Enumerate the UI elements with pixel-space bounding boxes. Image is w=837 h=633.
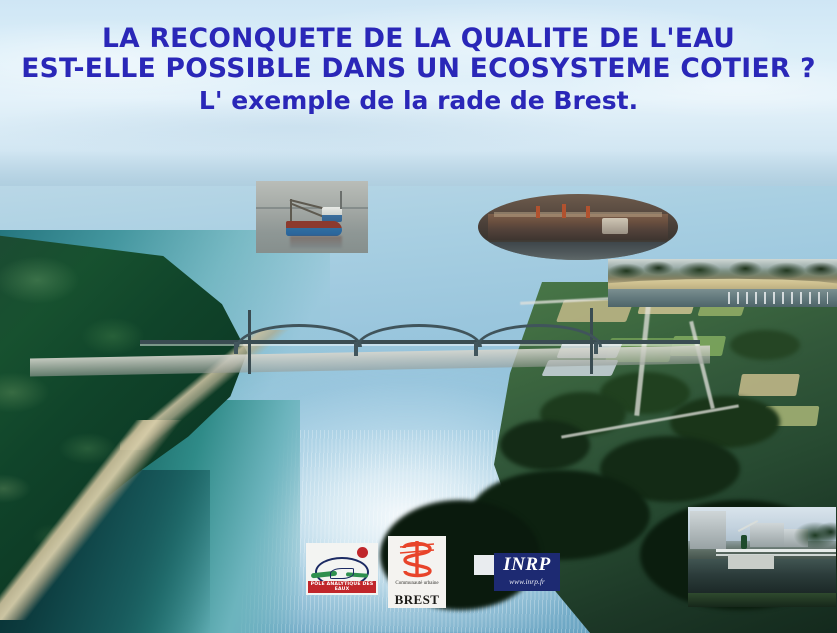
slide-title: LA RECONQUETE DE LA QUALITE DE L'EAU EST… <box>0 24 837 115</box>
boat-reflection <box>290 236 342 248</box>
ship-drydock-photo <box>478 194 678 260</box>
boat-photo-horizon <box>256 207 368 209</box>
title-line-2: EST-ELLE POSSIBLE DANS UN ECOSYSTEME COT… <box>0 54 837 84</box>
bridge-pier <box>594 342 598 354</box>
moored-boats <box>728 292 828 304</box>
bridge-arch <box>476 324 602 347</box>
bridge <box>140 322 700 386</box>
beach-treeline <box>608 259 837 279</box>
presentation-slide: LA RECONQUETE DE LA QUALITE DE L'EAU EST… <box>0 0 837 633</box>
inrp-url: www.inrp.fr <box>494 577 560 586</box>
brest-subtitle: Communauté urbaine <box>388 581 446 587</box>
inrp-name: INRP <box>494 554 560 576</box>
communaute-urbaine-brest-logo[interactable]: Communauté urbaine BREST <box>388 536 446 608</box>
station-weir <box>728 555 774 569</box>
boat-hull <box>286 221 342 236</box>
bridge-pier <box>474 342 478 356</box>
station-worker <box>741 535 747 549</box>
ship-hull <box>488 214 668 240</box>
brest-emblem-icon <box>396 538 438 580</box>
ship-photo-water <box>478 242 678 260</box>
pole-red-dot-icon <box>357 547 368 558</box>
ship-crane <box>536 206 540 218</box>
beach-photo <box>608 259 837 307</box>
station-grass <box>688 593 836 607</box>
title-line-1: LA RECONQUETE DE LA QUALITE DE L'EAU <box>0 24 837 54</box>
bridge-arch <box>236 324 362 347</box>
boat-cabin <box>322 207 342 222</box>
pole-analytique-des-eaux-logo[interactable]: PÔLE ANALYTIQUE DES EAUX <box>306 543 378 595</box>
bridge-arch <box>356 324 482 347</box>
ship-crane <box>562 204 566 218</box>
fishing-boat-photo <box>256 181 368 253</box>
field-patch <box>738 374 800 396</box>
bridge-pier <box>354 342 358 356</box>
boat-mast <box>340 191 342 209</box>
station-railing <box>716 549 836 552</box>
ship-superstructure <box>602 218 628 234</box>
brest-name: BREST <box>388 592 446 608</box>
woodland <box>500 420 590 470</box>
title-line-3: L' exemple de la rade de Brest. <box>0 87 837 115</box>
station-building <box>690 511 726 549</box>
inrp-logo[interactable]: INRP www.inrp.fr <box>474 553 560 591</box>
station-trees <box>784 515 836 549</box>
pole-logo-text: PÔLE ANALYTIQUE DES EAUX <box>308 581 376 593</box>
bridge-pier <box>234 342 238 354</box>
ship-crane <box>586 206 590 218</box>
ship-deck <box>494 212 662 217</box>
shoreline-sand-left <box>0 420 265 620</box>
station-building <box>750 523 784 547</box>
pole-fish-icon <box>330 568 354 579</box>
woodland <box>730 330 800 360</box>
water-treatment-photo <box>688 507 836 607</box>
